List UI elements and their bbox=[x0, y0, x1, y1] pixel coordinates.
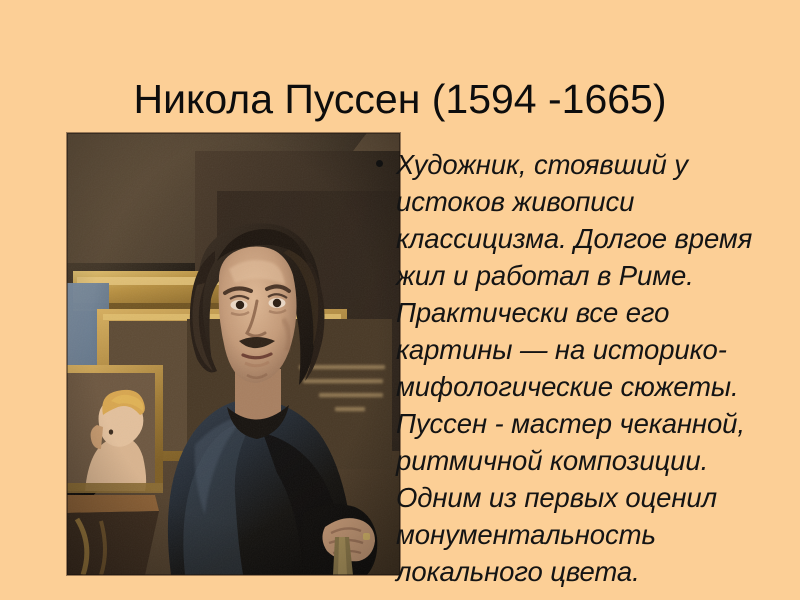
bullet-dot-icon bbox=[376, 160, 383, 167]
poussin-self-portrait-illustration bbox=[67, 133, 400, 575]
body-bullet-list: Художник, стоявший у истоков живописи кл… bbox=[376, 146, 786, 590]
portrait-image bbox=[67, 133, 400, 575]
bullet-text: Художник, стоявший у истоков живописи кл… bbox=[396, 146, 786, 590]
presentation-slide: Никола Пуссен (1594 -1665) bbox=[0, 0, 800, 600]
page-title: Никола Пуссен (1594 -1665) bbox=[0, 75, 800, 123]
list-item: Художник, стоявший у истоков живописи кл… bbox=[376, 146, 786, 590]
